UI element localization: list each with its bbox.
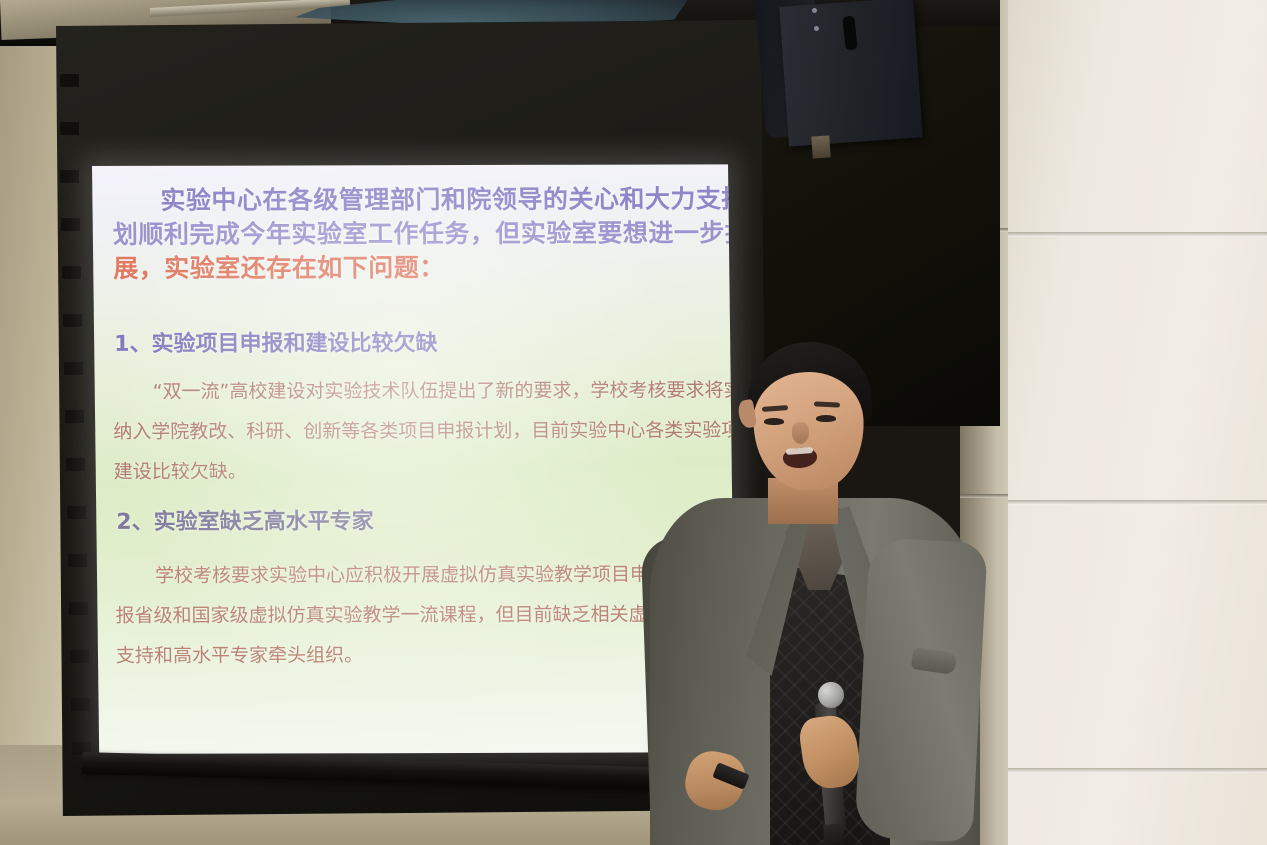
section-1-body: “双一流”高校建设对实验技术队伍提出了新的要求，学校考核要求将实验队伍需 纳入学… — [113, 370, 736, 492]
presenter-eye-left — [764, 418, 784, 425]
wall-panel-seam — [1000, 232, 1267, 237]
screen-tension-tab — [61, 218, 80, 231]
screen-tension-tab — [66, 458, 85, 471]
right-wall-panel — [1005, 0, 1267, 845]
speaker-bolt — [812, 8, 817, 13]
screen-tension-tab — [70, 650, 89, 663]
section-1-heading: 1、实验项目申报和建设比较欠缺 — [114, 325, 438, 358]
presenter-right-arm — [854, 537, 988, 843]
microphone-transmitter — [823, 823, 845, 845]
wall-speaker — [760, 0, 940, 152]
section-1-body-line-2: 纳入学院教改、科研、创新等各类项目申报计划，目前实验中心各类实验项目申报和 — [113, 410, 735, 452]
lead-paragraph-line-1: 实验中心在各级管理部门和院领导的关心和大力支持，按计 — [92, 182, 735, 218]
section-2-heading: 2、实验室缺乏高水平专家 — [116, 503, 374, 536]
screen-tension-tab — [65, 410, 84, 423]
screen-tension-tab — [60, 170, 79, 183]
presenter — [650, 330, 990, 845]
screen-tension-tab — [60, 74, 79, 87]
speaker-mount-post — [811, 135, 830, 158]
speaker-mount-bracket — [878, 50, 894, 112]
speaker-bolt — [814, 26, 819, 31]
projected-slide: 实验中心在各级管理部门和院领导的关心和大力支持，按计 划顺利完成今年实验室工作任… — [92, 164, 735, 754]
presenter-nose — [792, 422, 809, 444]
screen-tension-tab — [62, 266, 81, 279]
screen-tension-tab — [64, 362, 83, 375]
section-1-body-line-1: “双一流”高校建设对实验技术队伍提出了新的要求，学校考核要求将实验队伍需 — [113, 370, 736, 412]
screen-tension-tab — [69, 602, 88, 615]
presentation-photo-scene: 实验中心在各级管理部门和院领导的关心和大力支持，按计 划顺利完成今年实验室工作任… — [0, 0, 1267, 845]
screen-tension-tab — [67, 506, 86, 519]
screen-tension-tab — [68, 554, 87, 567]
presenter-face — [751, 369, 867, 493]
wall-panel-seam — [1000, 500, 1267, 505]
lead-paragraph-line-2: 划顺利完成今年实验室工作任务，但实验室要想进一步提高和发 — [93, 216, 736, 252]
presenter-eye-right — [816, 415, 836, 422]
section-1-body-line-3: 建设比较欠缺。 — [113, 450, 735, 492]
wall-panel-seam — [1000, 768, 1267, 773]
screen-tension-tab — [60, 122, 79, 135]
screen-tension-tab — [71, 698, 90, 711]
lead-paragraph-line-3: 展，实验室还存在如下问题： — [93, 250, 735, 286]
screen-tension-tab — [63, 314, 82, 327]
slide-content: 实验中心在各级管理部门和院领导的关心和大力支持，按计 划顺利完成今年实验室工作任… — [92, 164, 735, 754]
